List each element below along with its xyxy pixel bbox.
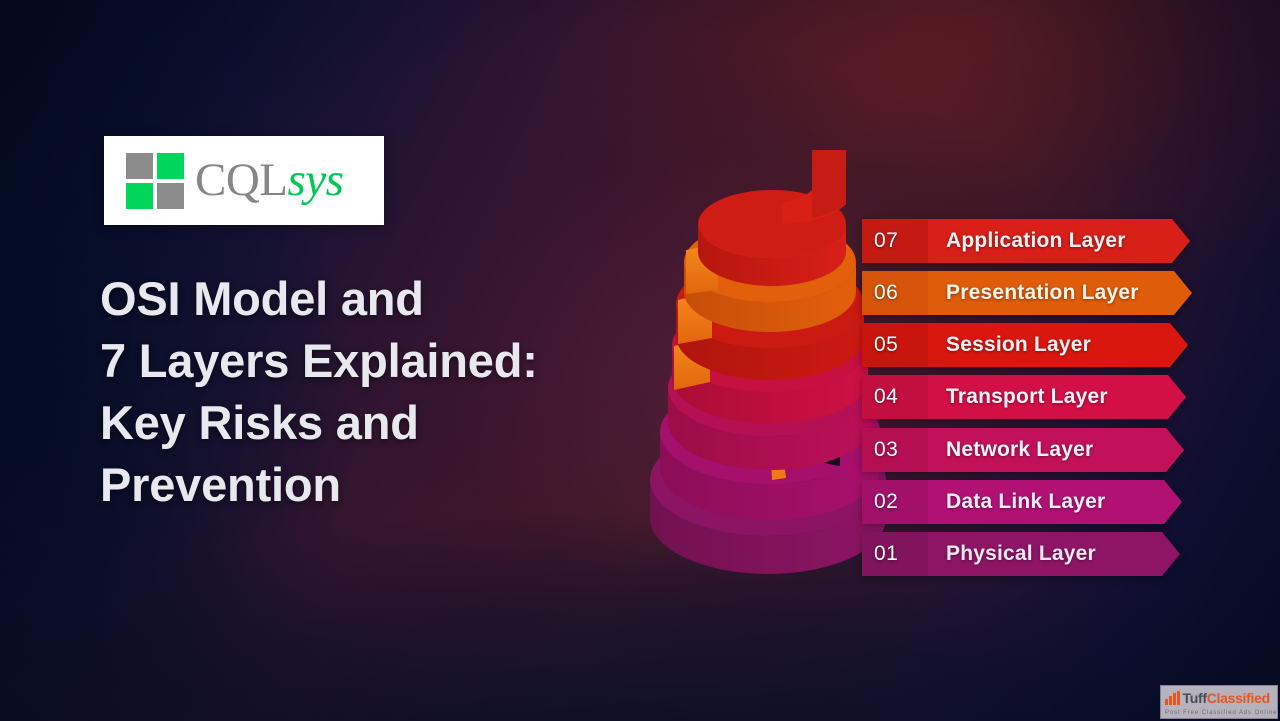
osi-layer-label-01: Physical Layer: [928, 532, 1180, 576]
watermark-logo-row: TuffClassified: [1165, 689, 1273, 707]
bar-chart-icon: [1165, 691, 1180, 705]
page-title: OSI Model and 7 Layers Explained: Key Ri…: [100, 268, 680, 516]
cqlsys-logo-card: CQLsys: [104, 136, 384, 225]
osi-layer-list: 07Application Layer06Presentation Layer0…: [862, 219, 1202, 579]
osi-layer-row-03[interactable]: 03Network Layer: [862, 428, 1184, 472]
logo-squares-icon: [126, 153, 186, 209]
logo-square-top-left: [126, 153, 153, 179]
osi-layer-row-02[interactable]: 02Data Link Layer: [862, 480, 1182, 524]
watermark-name: TuffClassified: [1183, 691, 1270, 705]
osi-layer-number-04: 04: [862, 375, 928, 419]
tuffclassified-watermark: TuffClassified Post Free Classified Ads …: [1160, 685, 1278, 719]
osi-layer-number-07: 07: [862, 219, 928, 263]
watermark-name-tuff: Tuff: [1183, 690, 1207, 706]
osi-layer-label-02: Data Link Layer: [928, 480, 1182, 524]
logo-text-sys: sys: [288, 154, 344, 206]
logo-square-bottom-right: [157, 183, 184, 209]
headline-line-2: 7 Layers Explained:: [100, 330, 680, 392]
osi-layer-row-05[interactable]: 05Session Layer: [862, 323, 1188, 367]
watermark-tagline: Post Free Classified Ads Online: [1165, 710, 1273, 716]
osi-layer-row-06[interactable]: 06Presentation Layer: [862, 271, 1192, 315]
osi-layer-row-07[interactable]: 07Application Layer: [862, 219, 1190, 263]
osi-layer-number-05: 05: [862, 323, 928, 367]
osi-layer-row-04[interactable]: 04Transport Layer: [862, 375, 1186, 419]
osi-layer-label-05: Session Layer: [928, 323, 1188, 367]
logo-wordmark: CQLsys: [195, 157, 343, 204]
logo-square-bottom-left: [126, 183, 153, 209]
osi-layer-label-07: Application Layer: [928, 219, 1190, 263]
osi-layer-label-06: Presentation Layer: [928, 271, 1192, 315]
logo-square-top-right: [157, 153, 184, 179]
osi-layer-number-06: 06: [862, 271, 928, 315]
osi-layer-number-03: 03: [862, 428, 928, 472]
osi-layer-label-03: Network Layer: [928, 428, 1184, 472]
headline-line-3: Key Risks and: [100, 392, 680, 454]
osi-layer-number-02: 02: [862, 480, 928, 524]
watermark-name-classified: Classified: [1207, 690, 1270, 706]
osi-layer-label-04: Transport Layer: [928, 375, 1186, 419]
osi-model-banner: CQLsys OSI Model and 7 Layers Explained:…: [0, 0, 1280, 721]
osi-layer-row-01[interactable]: 01Physical Layer: [862, 532, 1180, 576]
headline-line-1: OSI Model and: [100, 268, 680, 330]
osi-layer-number-01: 01: [862, 532, 928, 576]
headline-line-4: Prevention: [100, 454, 680, 516]
logo-text-cql: CQL: [195, 154, 288, 206]
